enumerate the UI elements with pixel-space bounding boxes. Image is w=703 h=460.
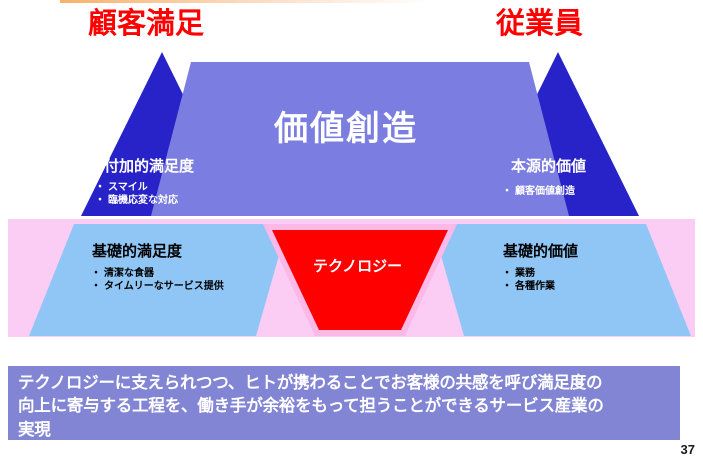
page-number: 37 xyxy=(681,442,695,457)
list-item-label: 各種作業 xyxy=(515,281,555,292)
lower-right-bullets: ・業務 ・各種作業 xyxy=(502,268,555,293)
list-item: ・顧客価値創造 xyxy=(502,186,575,199)
bullet-marker-icon: ・ xyxy=(502,186,515,199)
bullet-marker-icon: ・ xyxy=(91,281,104,294)
bullet-marker-icon: ・ xyxy=(95,182,108,195)
upper-left-title: 付加的満足度 xyxy=(104,158,194,177)
list-item: ・スマイル xyxy=(95,182,178,195)
list-item-label: 業務 xyxy=(515,268,535,279)
list-item-label: 臨機応変な対応 xyxy=(108,195,178,206)
technology-triangle-shape xyxy=(272,230,448,330)
list-item-label: 顧客価値創造 xyxy=(515,186,575,197)
lower-left-bullets: ・清潔な食器 ・タイムリーなサービス提供 xyxy=(91,268,224,293)
summary-caption-box: テクノロジーに支えられつつ、ヒトが携わることでお客様の共感を呼び満足度の 向上に… xyxy=(8,366,680,440)
list-item-label: タイムリーなサービス提供 xyxy=(104,281,224,292)
upper-left-bullets: ・スマイル ・臨機応変な対応 xyxy=(95,182,178,207)
list-item: ・業務 xyxy=(502,268,555,281)
summary-caption-line-2: 向上に寄与する工程を、働き手が余裕をもって担うことができるサービス産業の xyxy=(18,395,670,418)
summary-caption-line-1: テクノロジーに支えられつつ、ヒトが携わることでお客様の共感を呼び満足度の xyxy=(18,372,670,395)
list-item: ・各種作業 xyxy=(502,281,555,294)
bullet-marker-icon: ・ xyxy=(502,281,515,294)
list-item-label: 清潔な食器 xyxy=(104,268,154,279)
technology-label: テクノロジー xyxy=(313,258,402,277)
apex-label: 価値創造 xyxy=(274,108,418,151)
list-item-label: スマイル xyxy=(108,182,148,193)
bullet-marker-icon: ・ xyxy=(95,195,108,208)
upper-right-bullets: ・顧客価値創造 xyxy=(502,186,575,199)
summary-caption-line-3: 実現 xyxy=(18,419,670,442)
lower-left-title: 基礎的満足度 xyxy=(92,243,182,262)
bullet-marker-icon: ・ xyxy=(502,268,515,281)
lower-right-title: 基礎的価値 xyxy=(503,243,578,262)
list-item: ・臨機応変な対応 xyxy=(95,195,178,208)
bullet-marker-icon: ・ xyxy=(91,268,104,281)
list-item: ・清潔な食器 xyxy=(91,268,224,281)
lower-right-trapezoid-shape xyxy=(432,224,691,336)
upper-right-title: 本源的価値 xyxy=(511,158,586,177)
list-item: ・タイムリーなサービス提供 xyxy=(91,281,224,294)
